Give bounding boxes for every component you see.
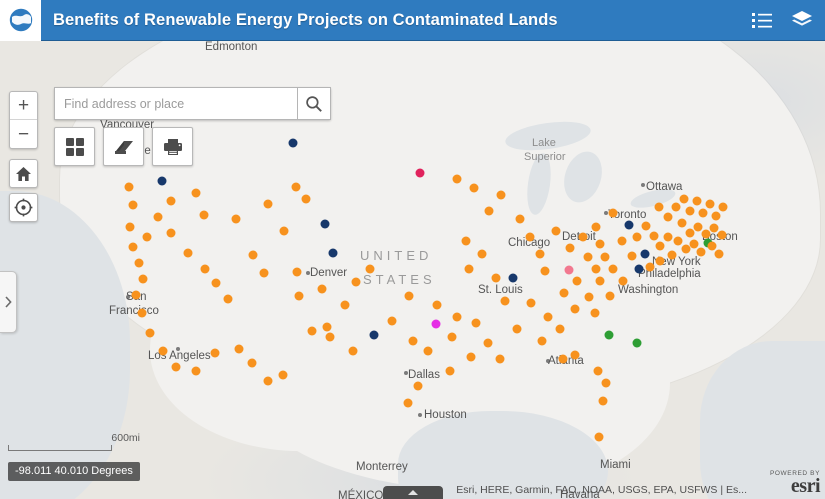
map-data-point[interactable] [646,263,655,272]
map-data-point[interactable] [650,232,659,241]
map-data-point[interactable] [292,183,301,192]
city-dot [126,295,130,299]
map-data-point[interactable] [633,233,642,242]
map-data-point[interactable] [592,265,601,274]
locate-button[interactable] [9,193,38,222]
search-magnifier-icon [305,95,323,113]
map-data-point[interactable] [462,237,471,246]
map-data-point[interactable] [129,243,138,252]
map-data-point[interactable] [678,219,687,228]
widget-toolbar[interactable] [54,127,193,166]
map-data-point[interactable] [446,367,455,376]
basemap-gallery-button[interactable] [54,127,95,166]
map-data-point[interactable] [404,399,413,408]
search-button[interactable] [297,87,331,120]
bookmarks-button[interactable] [103,127,144,166]
map-data-point[interactable] [536,250,545,259]
map-data-point[interactable] [565,266,574,275]
map-data-point[interactable] [628,252,637,261]
map-data-point[interactable] [599,397,608,406]
map-data-point[interactable] [323,323,332,332]
map-data-point[interactable] [465,265,474,274]
map-data-point[interactable] [321,220,330,229]
map-data-point[interactable] [633,339,642,348]
map-data-point[interactable] [715,250,724,259]
map-data-point[interactable] [432,320,441,329]
map-data-point[interactable] [656,257,665,266]
map-data-point[interactable] [686,207,695,216]
home-button[interactable] [9,159,38,188]
overview-map-toggle[interactable] [383,486,443,499]
map-data-point[interactable] [405,292,414,301]
map-data-point[interactable] [200,211,209,220]
city-dot [641,183,645,187]
map-data-point[interactable] [293,268,302,277]
city-dot [404,371,408,375]
map-data-point[interactable] [341,301,350,310]
map-data-point[interactable] [625,221,634,230]
map-data-point[interactable] [424,347,433,356]
map-data-point[interactable] [596,277,605,286]
app-header: Benefits of Renewable Energy Projects on… [0,0,825,41]
zoom-controls[interactable]: + − [9,91,38,149]
map-data-point[interactable] [409,337,418,346]
map-data-point[interactable] [139,275,148,284]
map-data-point[interactable] [596,240,605,249]
zoom-in-button[interactable]: + [10,92,37,120]
map-data-point[interactable] [710,224,719,233]
map-data-point[interactable] [370,331,379,340]
page-title: Benefits of Renewable Energy Projects on… [41,11,745,30]
city-dot [546,359,550,363]
search-widget[interactable] [54,87,331,120]
map-data-point[interactable] [664,233,673,242]
map-data-point[interactable] [680,195,689,204]
map-data-point[interactable] [302,195,311,204]
map-data-point[interactable] [585,293,594,302]
map-data-point[interactable] [584,253,593,262]
map-data-point[interactable] [595,433,604,442]
map-data-point[interactable] [138,309,147,318]
map-data-point[interactable] [719,203,728,212]
home-icon [15,166,32,182]
map-data-point[interactable] [264,377,273,386]
map-data-point[interactable] [619,277,628,286]
map-data-point[interactable] [448,333,457,342]
map-data-point[interactable] [641,250,650,259]
map-data-point[interactable] [249,251,258,260]
zoom-out-button[interactable]: − [10,120,37,148]
map-data-point[interactable] [552,227,561,236]
map-data-point[interactable] [126,223,135,232]
map-data-point[interactable] [573,277,582,286]
layers-icon [791,10,813,30]
locate-crosshair-icon [14,198,33,217]
map-data-point[interactable] [538,337,547,346]
map-data-point[interactable] [606,292,615,301]
map-data-point[interactable] [172,363,181,372]
map-data-point[interactable] [708,242,717,251]
map-data-point[interactable] [125,183,134,192]
grid-squares-icon [65,137,85,157]
map-data-point[interactable] [513,325,522,334]
globe-icon [7,6,35,34]
map-data-point[interactable] [668,251,677,260]
map-data-point[interactable] [485,207,494,216]
map-data-point[interactable] [699,209,708,218]
map-data-point[interactable] [594,367,603,376]
map-data-point[interactable] [559,355,568,364]
map-data-point[interactable] [232,215,241,224]
map-data-point[interactable] [693,197,702,206]
layers-button[interactable] [785,4,819,36]
map-data-point[interactable] [318,285,327,294]
map-data-point[interactable] [694,223,703,232]
map-data-point[interactable] [289,139,298,148]
attribution-text[interactable]: Esri, HERE, Garmin, FAO, NOAA, USGS, EPA… [456,484,747,496]
map-data-point[interactable] [184,249,193,258]
map-data-point[interactable] [496,355,505,364]
city-dot [176,347,180,351]
map-data-point[interactable] [509,274,518,283]
map-data-point[interactable] [690,240,699,249]
map-data-point[interactable] [556,325,565,334]
map-data-point[interactable] [132,291,141,300]
map-data-point[interactable] [143,233,152,242]
city-dot [604,211,608,215]
coordinates-readout: -98.011 40.010 Degrees [8,462,140,481]
map-data-point[interactable] [591,309,600,318]
map-data-point[interactable] [501,297,510,306]
map-data-point[interactable] [201,265,210,274]
bookmark-ribbon-icon [113,137,135,157]
map-data-point[interactable] [605,331,614,340]
map-data-point[interactable] [453,175,462,184]
chevron-right-icon [4,296,12,308]
map-data-point[interactable] [414,382,423,391]
map-data-point[interactable] [366,265,375,274]
map-data-point[interactable] [416,169,425,178]
map-data-point[interactable] [467,353,476,362]
map-data-point[interactable] [706,200,715,209]
map-data-point[interactable] [280,227,289,236]
map-data-point[interactable] [260,269,269,278]
map-data-point[interactable] [601,253,610,262]
map-canvas[interactable]: EdmontonCalgaryVancouverSeattleLakeSuper… [0,41,825,499]
map-data-point[interactable] [212,279,221,288]
map-data-point[interactable] [135,259,144,268]
legend-button[interactable] [745,4,779,36]
map-data-point[interactable] [279,371,288,380]
map-data-point[interactable] [264,200,273,209]
map-data-point[interactable] [602,379,611,388]
map-data-point[interactable] [308,327,317,336]
map-data-point[interactable] [478,250,487,259]
map-data-point[interactable] [618,237,627,246]
map-data-point[interactable] [702,230,711,239]
map-data-point[interactable] [672,203,681,212]
map-data-point[interactable] [544,313,553,322]
map-data-point[interactable] [492,274,501,283]
map-data-point[interactable] [433,301,442,310]
map-data-point[interactable] [326,333,335,342]
side-panel-handle[interactable] [0,271,17,333]
map-data-point[interactable] [718,231,727,240]
map-data-point[interactable] [211,349,220,358]
map-data-point[interactable] [674,237,683,246]
map-data-point[interactable] [609,209,618,218]
print-button[interactable] [152,127,193,166]
map-data-point[interactable] [146,329,155,338]
printer-icon [162,137,184,157]
map-data-point[interactable] [609,265,618,274]
map-data-point[interactable] [712,212,721,221]
map-data-point[interactable] [526,233,535,242]
map-data-point[interactable] [635,265,644,274]
esri-logo: POWERED BY esri [770,470,820,495]
map-data-point[interactable] [527,299,536,308]
map-data-point[interactable] [642,222,651,231]
map-data-point[interactable] [248,359,257,368]
map-data-point[interactable] [579,233,588,242]
map-data-point[interactable] [571,351,580,360]
map-data-point[interactable] [497,191,506,200]
map-data-point[interactable] [664,213,673,222]
triangle-up-icon [408,490,418,495]
map-data-point[interactable] [192,367,201,376]
map-data-point[interactable] [560,289,569,298]
map-data-point[interactable] [352,278,361,287]
map-data-point[interactable] [159,347,168,356]
city-dot [306,271,310,275]
city-dot [418,413,422,417]
map-data-point[interactable] [656,242,665,251]
map-data-point[interactable] [388,317,397,326]
map-data-point[interactable] [192,189,201,198]
map-data-point[interactable] [167,229,176,238]
map-data-point[interactable] [484,339,493,348]
map-data-point[interactable] [571,305,580,314]
search-input[interactable] [54,87,297,120]
map-data-point[interactable] [224,295,233,304]
app-logo [0,0,41,41]
map-data-point[interactable] [516,215,525,224]
list-icon [751,10,773,30]
map-data-point[interactable] [167,197,176,206]
map-data-point[interactable] [697,248,706,257]
map-data-point[interactable] [158,177,167,186]
map-data-point[interactable] [470,184,479,193]
map-data-point[interactable] [129,201,138,210]
map-data-point[interactable] [154,213,163,222]
map-data-point[interactable] [235,345,244,354]
map-data-point[interactable] [295,292,304,301]
map-data-point[interactable] [541,267,550,276]
map-data-point[interactable] [349,347,358,356]
map-data-point[interactable] [686,229,695,238]
esri-wordmark: esri [770,477,820,495]
map-data-point[interactable] [566,244,575,253]
map-data-point[interactable] [329,249,338,258]
map-data-point[interactable] [655,203,664,212]
map-application: Benefits of Renewable Energy Projects on… [0,0,825,499]
map-data-point[interactable] [453,313,462,322]
map-data-point[interactable] [592,223,601,232]
map-data-point[interactable] [472,319,481,328]
